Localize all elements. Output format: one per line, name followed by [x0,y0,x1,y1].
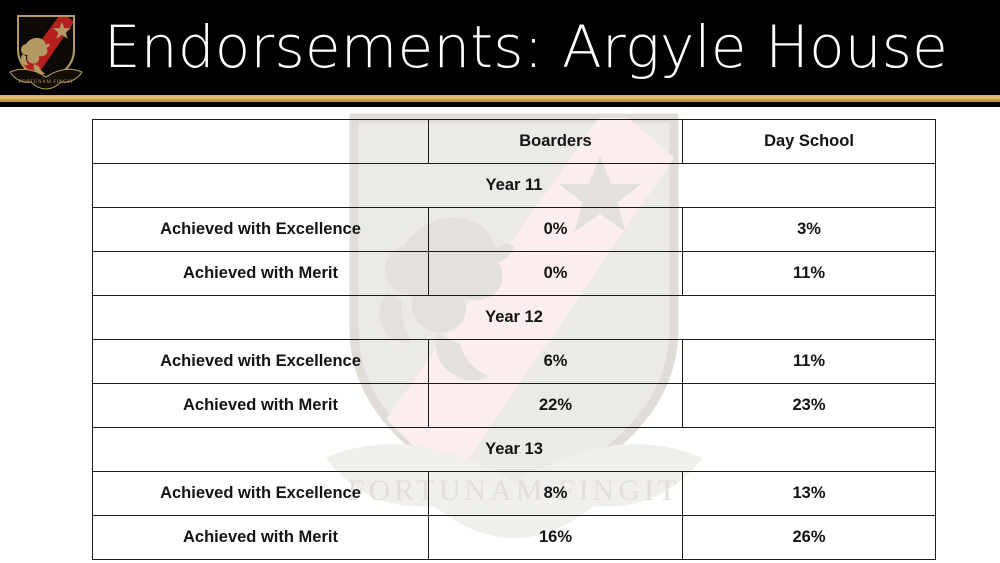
argyle-house-crest-icon: FORTUNAM FINGIT [8,10,84,90]
group-row-year-12: Year 12 [93,296,936,340]
row-value-day-school: 26% [683,516,936,560]
table-header-row: Boarders Day School [93,120,936,164]
table-row: Achieved with Excellence 8% 13% [93,472,936,516]
row-value-boarders: 22% [429,384,683,428]
row-label: Achieved with Excellence [93,208,429,252]
row-value-boarders: 0% [429,252,683,296]
row-label: Achieved with Merit [93,252,429,296]
header-cell-day-school: Day School [683,120,936,164]
group-row-year-11: Year 11 [93,164,936,208]
header-rule-gold-accent [0,95,1000,102]
row-label: Achieved with Merit [93,384,429,428]
group-row-year-13: Year 13 [93,428,936,472]
row-label: Achieved with Merit [93,516,429,560]
group-label-year-12: Year 12 [93,296,936,340]
row-value-day-school: 11% [683,340,936,384]
table-row: Achieved with Merit 16% 26% [93,516,936,560]
table-row: Achieved with Merit 0% 11% [93,252,936,296]
row-value-boarders: 8% [429,472,683,516]
table-row: Achieved with Merit 22% 23% [93,384,936,428]
page-title: Endorsements: Argyle House [96,6,956,88]
header-cell-blank [93,120,429,164]
slide-root: FORTUNAM FINGIT Boarders Day School Year… [0,0,1000,563]
group-label-year-13: Year 13 [93,428,936,472]
row-value-day-school: 23% [683,384,936,428]
header-cell-boarders: Boarders [429,120,683,164]
table-row: Achieved with Excellence 0% 3% [93,208,936,252]
row-value-boarders: 6% [429,340,683,384]
row-label: Achieved with Excellence [93,340,429,384]
table-row: Achieved with Excellence 6% 11% [93,340,936,384]
crest-motto-text: FORTUNAM FINGIT [19,79,74,85]
row-value-boarders: 0% [429,208,683,252]
group-label-year-11: Year 11 [93,164,936,208]
endorsements-table: Boarders Day School Year 11 Achieved wit… [92,119,936,560]
row-value-day-school: 11% [683,252,936,296]
row-value-day-school: 13% [683,472,936,516]
row-value-day-school: 3% [683,208,936,252]
row-value-boarders: 16% [429,516,683,560]
row-label: Achieved with Excellence [93,472,429,516]
